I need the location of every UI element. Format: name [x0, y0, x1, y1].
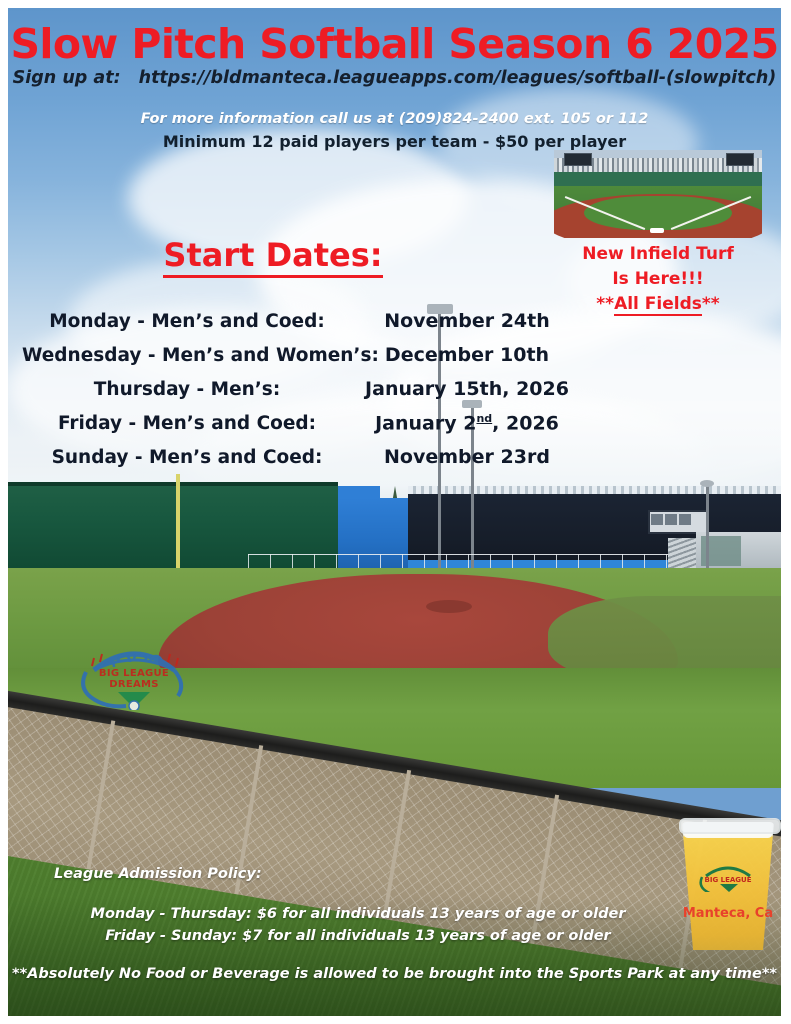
- table-row: Wednesday - Men’s and Women’s: December …: [22, 344, 582, 378]
- turf-caption-line3: **All Fields**: [548, 292, 768, 317]
- table-row: Sunday - Men’s and Coed: November 23rd: [22, 446, 582, 480]
- flyer-canvas: Slow Pitch Softball Season 6 2025 Sign u…: [8, 8, 781, 1016]
- policy-title: League Admission Policy:: [54, 866, 262, 882]
- day-label: Sunday - Men’s and Coed:: [22, 447, 352, 468]
- contact-phone-line: For more information call us at (209)824…: [8, 111, 781, 127]
- start-dates-heading-text: Start Dates:: [163, 236, 382, 278]
- table-row: Monday - Men’s and Coed: November 24th: [22, 310, 582, 344]
- signup-line: Sign up at:https://bldmanteca.leagueapps…: [8, 68, 781, 88]
- day-date: November 23rd: [352, 446, 582, 468]
- all-fields-text: All Fields: [614, 294, 702, 316]
- day-label: Monday - Men’s and Coed:: [22, 311, 352, 332]
- infield-turf-photo: [554, 150, 762, 238]
- date-year: , 2026: [492, 412, 559, 434]
- logo-text: BIG LEAGUE DREAMS: [74, 668, 194, 690]
- day-date: December 10th: [352, 344, 582, 366]
- day-date: January 15th, 2026: [352, 378, 582, 400]
- turf-caption-line1: New Infield Turf: [548, 242, 768, 267]
- day-date: January 2nd, 2026: [352, 412, 582, 434]
- day-label: Wednesday - Men’s and Women’s:: [22, 345, 352, 366]
- turf-caption: New Infield Turf Is Here!!! **All Fields…: [548, 242, 768, 317]
- policy-lines: Monday - Thursday: $6 for all individual…: [8, 903, 708, 947]
- day-label: Thursday - Men’s:: [22, 379, 352, 400]
- turf-caption-line2: Is Here!!!: [548, 267, 768, 292]
- flyer-page: Slow Pitch Softball Season 6 2025 Sign u…: [0, 0, 791, 1024]
- day-label: Friday - Men’s and Coed:: [22, 413, 352, 434]
- page-title: Slow Pitch Softball Season 6 2025: [8, 20, 781, 68]
- content-layer: Slow Pitch Softball Season 6 2025 Sign u…: [8, 8, 781, 1016]
- svg-text:BIG LEAGUE: BIG LEAGUE: [705, 876, 752, 884]
- signup-url[interactable]: https://bldmanteca.leagueapps.com/league…: [139, 68, 777, 88]
- stars-left: **: [596, 294, 614, 314]
- minimum-players-line: Minimum 12 paid players per team - $50 p…: [8, 132, 781, 151]
- cup-stadium-arch-icon: BIG LEAGUE: [698, 858, 758, 892]
- signup-label: Sign up at:: [13, 68, 121, 88]
- table-row: Thursday - Men’s: January 15th, 2026: [22, 378, 582, 412]
- food-beverage-disclaimer: **Absolutely No Food or Beverage is allo…: [8, 966, 781, 982]
- date-prefix: January 2: [375, 412, 476, 434]
- stars-right: **: [702, 294, 720, 314]
- policy-line-1: Monday - Thursday: $6 for all individual…: [8, 903, 708, 925]
- big-league-dreams-logo: BIG LEAGUE DREAMS: [74, 636, 194, 710]
- date-ordinal-suffix: nd: [476, 412, 492, 425]
- table-row: Friday - Men’s and Coed: January 2nd, 20…: [22, 412, 582, 446]
- policy-line-2: Friday - Sunday: $7 for all individuals …: [8, 925, 708, 947]
- start-dates-table: Monday - Men’s and Coed: November 24th W…: [22, 310, 582, 480]
- cup-rim: [679, 818, 781, 834]
- start-dates-heading: Start Dates:: [108, 236, 438, 274]
